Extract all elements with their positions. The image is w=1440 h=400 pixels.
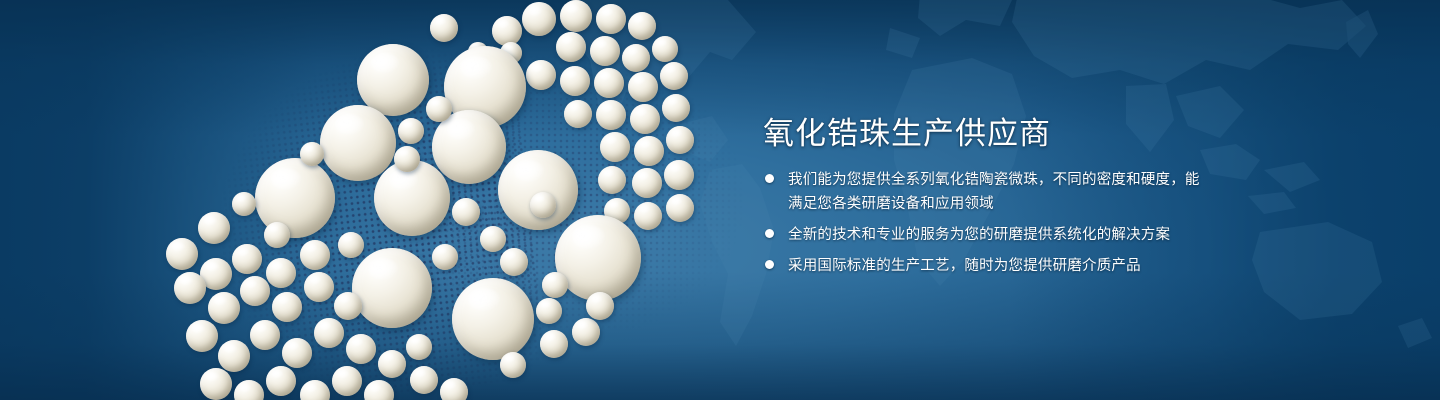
list-item: 我们能为您提供全系列氧化锆陶瓷微珠，不同的密度和硬度，能满足您各类研磨设备和应用… [765, 168, 1205, 216]
bullet-dot-icon [765, 174, 774, 183]
list-item-label: 采用国际标准的生产工艺，随时为您提供研磨介质产品 [788, 254, 1141, 278]
benefits-list: 我们能为您提供全系列氧化锆陶瓷微珠，不同的密度和硬度，能满足您各类研磨设备和应用… [765, 168, 1205, 278]
banner-title: 氧化锆珠生产供应商 [763, 108, 1051, 153]
hero-banner: 氧化锆珠生产供应商 我们能为您提供全系列氧化锆陶瓷微珠，不同的密度和硬度，能满足… [0, 0, 1440, 400]
list-item-label: 我们能为您提供全系列氧化锆陶瓷微珠，不同的密度和硬度，能满足您各类研磨设备和应用… [788, 168, 1205, 216]
bullet-dot-icon [765, 260, 774, 269]
zirconia-beads-image [0, 0, 760, 400]
banner-text-block: 氧化锆珠生产供应商 我们能为您提供全系列氧化锆陶瓷微珠，不同的密度和硬度，能满足… [763, 0, 1233, 400]
list-item: 采用国际标准的生产工艺，随时为您提供研磨介质产品 [765, 254, 1205, 278]
list-item-label: 全新的技术和专业的服务为您的研磨提供系统化的解决方案 [788, 223, 1170, 247]
bullet-dot-icon [765, 229, 774, 238]
list-item: 全新的技术和专业的服务为您的研磨提供系统化的解决方案 [765, 223, 1205, 247]
